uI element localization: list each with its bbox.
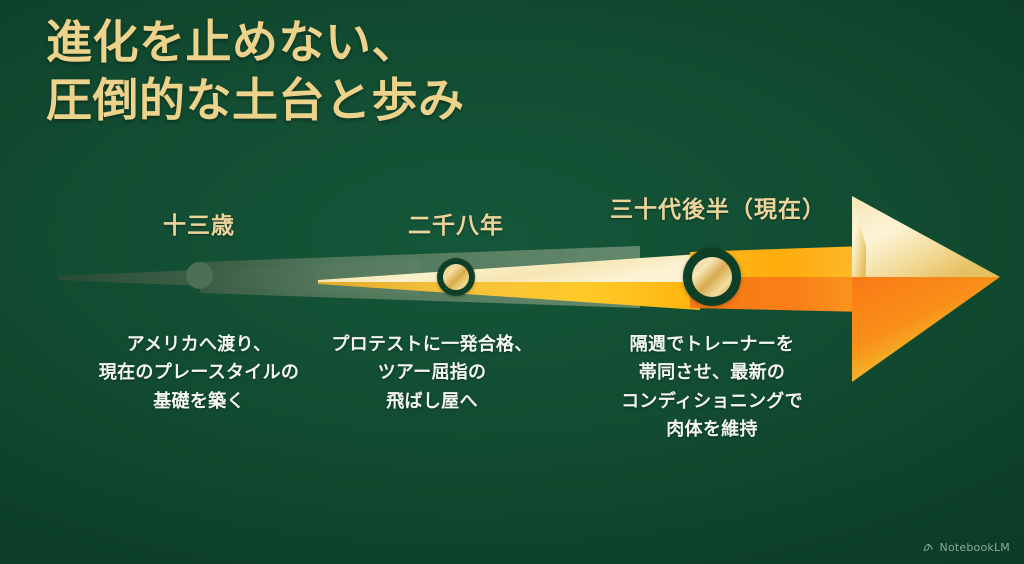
milestone-description-3: 隔週でトレーナーを 帯同させ、最新の コンディショニングで 肉体を維持 (621, 331, 803, 445)
page-title: 進化を止めない、 圧倒的な土台と歩み (46, 14, 686, 130)
milestone-label-3: 三十代後半（現在） (610, 190, 826, 224)
milestone-description-2: プロテストに一発合格、 ツアー屈指の 飛ばし屋へ (331, 331, 532, 416)
notebooklm-icon (922, 541, 935, 554)
milestone-marker-1[interactable] (186, 262, 213, 289)
milestone-label-1: 十三歳 (163, 206, 235, 240)
milestone-marker-3[interactable] (683, 248, 741, 306)
milestone-marker-2[interactable] (437, 258, 475, 296)
milestone-description-1: アメリカへ渡り、 現在のプレースタイルの 基礎を築く (99, 331, 299, 416)
slide-canvas: 進化を止めない、 圧倒的な土台と歩み (0, 0, 1024, 564)
milestone-label-2: 二千八年 (408, 206, 504, 240)
notebooklm-watermark: NotebookLM (922, 541, 1010, 554)
watermark-label: NotebookLM (940, 541, 1010, 554)
